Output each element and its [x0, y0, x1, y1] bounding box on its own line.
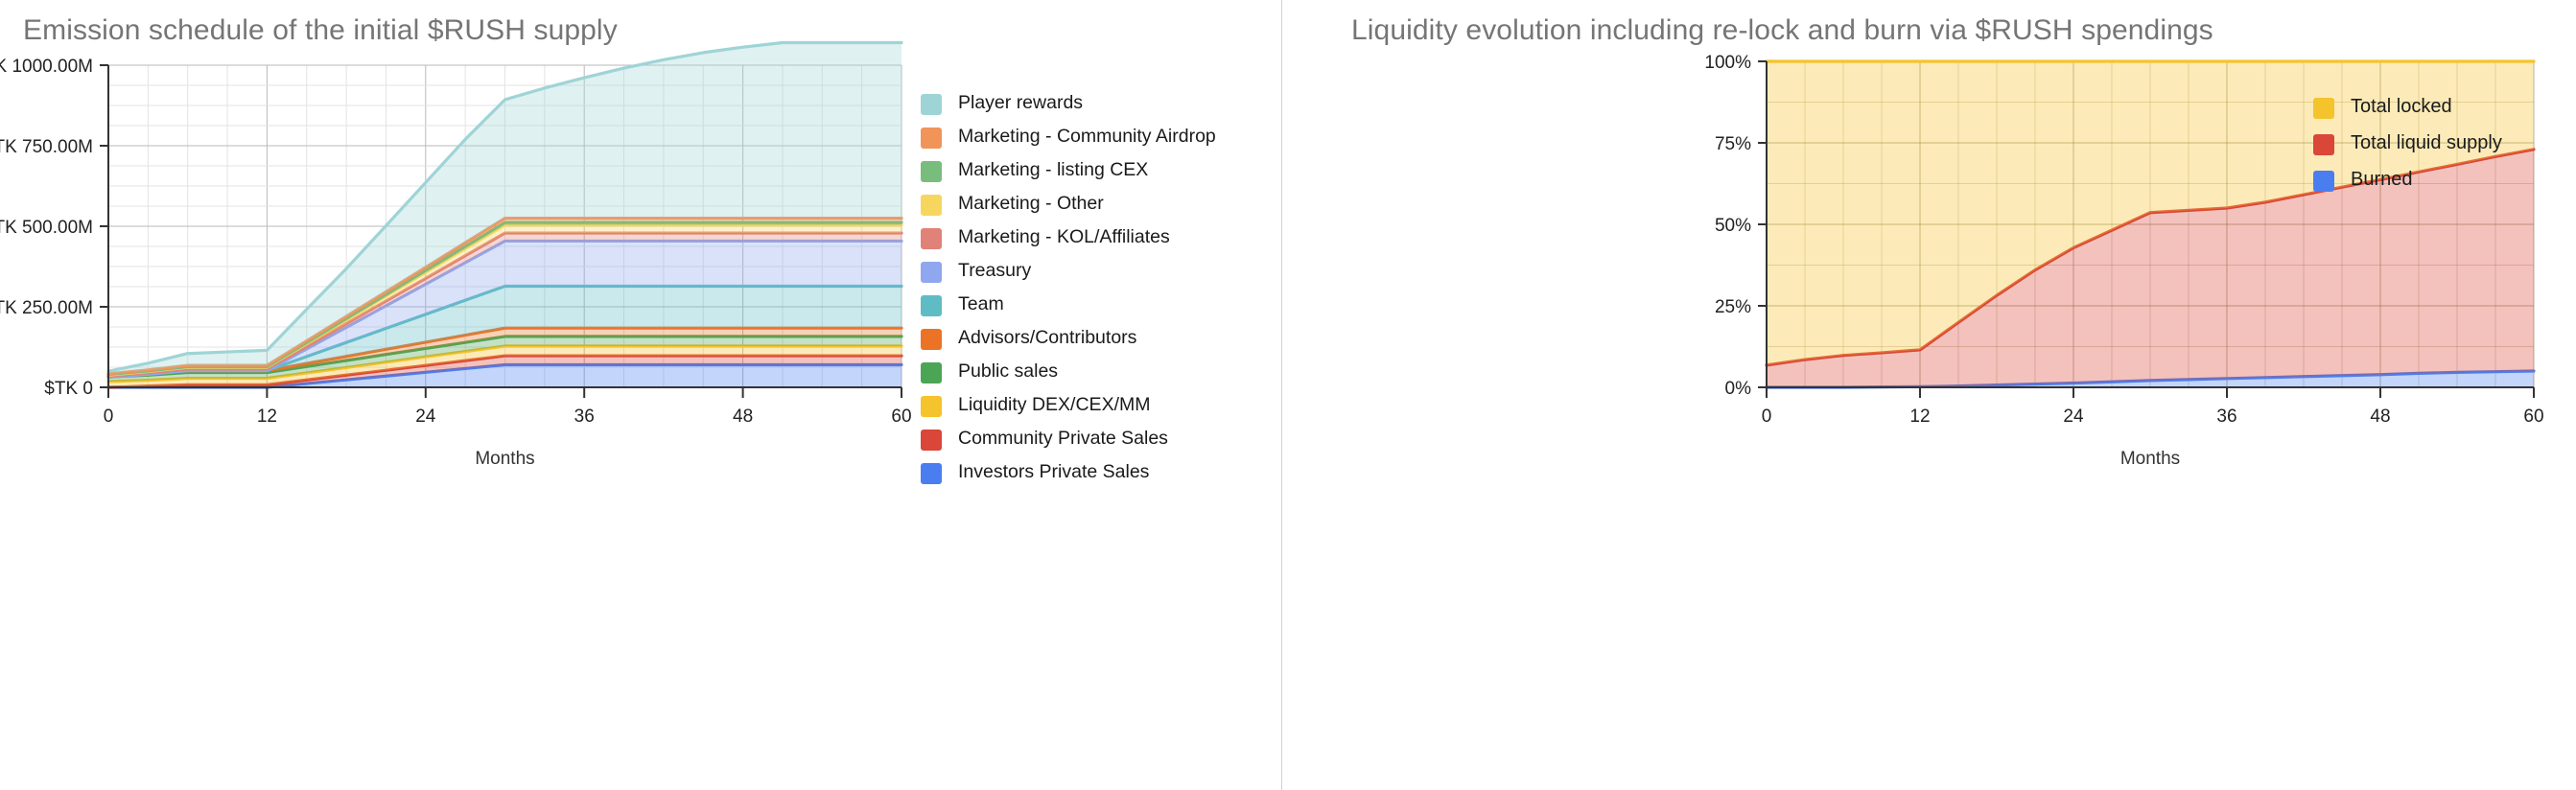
legend-item[interactable]: Player rewards: [921, 92, 1276, 118]
x-tick-label: 12: [1909, 407, 1930, 427]
right-chart-panel: Liquidity evolution including re-lock an…: [1282, 0, 2576, 790]
right-chart-legend: Total lockedTotal liquid supplyBurned: [2313, 96, 2576, 205]
legend-item[interactable]: Advisors/Contributors: [921, 327, 1276, 353]
legend-swatch-icon: [2313, 134, 2334, 155]
legend-item[interactable]: Team: [921, 293, 1276, 319]
legend-swatch-icon: [2313, 98, 2334, 119]
y-tick-label: 50%: [1715, 216, 1751, 236]
legend-swatch-icon: [921, 161, 942, 182]
legend-item-label: Liquidity DEX/CEX/MM: [958, 394, 1150, 416]
legend-swatch-icon: [921, 362, 942, 383]
legend-item[interactable]: Marketing - Other: [921, 193, 1276, 219]
x-tick-label: 36: [574, 407, 595, 427]
left-chart-plot: $TK 0$TK 250.00M$TK 500.00M$TK 750.00M$T…: [0, 0, 921, 790]
legend-item[interactable]: Investors Private Sales: [921, 461, 1276, 487]
y-tick-label: $TK 1000.00M: [0, 57, 93, 77]
x-tick-label: 48: [733, 407, 753, 427]
y-tick-label: 100%: [1704, 53, 1751, 73]
legend-item[interactable]: Burned: [2313, 169, 2576, 196]
legend-item-label: Marketing - Other: [958, 193, 1104, 215]
left-chart-panel: Emission schedule of the initial $RUSH s…: [0, 0, 1282, 790]
y-tick-label: 75%: [1715, 134, 1751, 154]
x-tick-label: 60: [891, 407, 911, 427]
x-tick-label: 36: [2216, 407, 2236, 427]
legend-swatch-icon: [921, 463, 942, 484]
legend-swatch-icon: [921, 295, 942, 316]
x-tick-label: 24: [2063, 407, 2084, 427]
x-tick-label: 0: [1762, 407, 1772, 427]
legend-swatch-icon: [921, 396, 942, 417]
legend-swatch-icon: [921, 195, 942, 216]
legend-item-label: Total locked: [2351, 96, 2452, 118]
legend-swatch-icon: [2313, 171, 2334, 192]
legend-swatch-icon: [921, 329, 942, 350]
x-tick-label: 48: [2370, 407, 2390, 427]
x-tick-label: 24: [415, 407, 436, 427]
legend-item-label: Community Private Sales: [958, 428, 1168, 450]
legend-item[interactable]: Public sales: [921, 360, 1276, 386]
legend-swatch-icon: [921, 94, 942, 115]
legend-item-label: Treasury: [958, 260, 1031, 282]
legend-item[interactable]: Total liquid supply: [2313, 132, 2576, 159]
legend-item[interactable]: Marketing - Community Airdrop: [921, 126, 1276, 151]
legend-swatch-icon: [921, 128, 942, 149]
legend-item-label: Advisors/Contributors: [958, 327, 1136, 349]
legend-item-label: Burned: [2351, 169, 2413, 191]
legend-swatch-icon: [921, 262, 942, 283]
legend-item-label: Player rewards: [958, 92, 1083, 114]
y-tick-label: $TK 500.00M: [0, 218, 93, 238]
legend-swatch-icon: [921, 228, 942, 249]
legend-item-label: Marketing - listing CEX: [958, 159, 1148, 181]
left-chart-svg: $TK 0$TK 250.00M$TK 500.00M$TK 750.00M$T…: [0, 0, 921, 790]
x-axis-title: Months: [2120, 449, 2180, 469]
y-tick-label: $TK 750.00M: [0, 137, 93, 157]
left-chart-legend: Player rewardsMarketing - Community Aird…: [921, 92, 1276, 495]
legend-item-label: Marketing - KOL/Affiliates: [958, 226, 1170, 248]
legend-item-label: Marketing - Community Airdrop: [958, 126, 1216, 148]
charts-board: Emission schedule of the initial $RUSH s…: [0, 0, 2576, 790]
y-tick-label: 0%: [1725, 379, 1752, 399]
x-axis-title: Months: [475, 449, 534, 469]
y-tick-label: $TK 0: [44, 379, 93, 399]
legend-item[interactable]: Treasury: [921, 260, 1276, 286]
x-tick-label: 0: [104, 407, 114, 427]
x-tick-label: 60: [2523, 407, 2543, 427]
x-tick-label: 12: [257, 407, 277, 427]
legend-item[interactable]: Marketing - KOL/Affiliates: [921, 226, 1276, 252]
legend-item-label: Total liquid supply: [2351, 132, 2502, 154]
legend-item[interactable]: Marketing - listing CEX: [921, 159, 1276, 185]
legend-item-label: Investors Private Sales: [958, 461, 1149, 483]
legend-item-label: Public sales: [958, 360, 1058, 383]
legend-item[interactable]: Total locked: [2313, 96, 2576, 123]
legend-item[interactable]: Liquidity DEX/CEX/MM: [921, 394, 1276, 420]
legend-item-label: Team: [958, 293, 1004, 315]
y-tick-label: $TK 250.00M: [0, 298, 93, 318]
legend-swatch-icon: [921, 430, 942, 451]
y-tick-label: 25%: [1715, 297, 1751, 317]
legend-item[interactable]: Community Private Sales: [921, 428, 1276, 453]
